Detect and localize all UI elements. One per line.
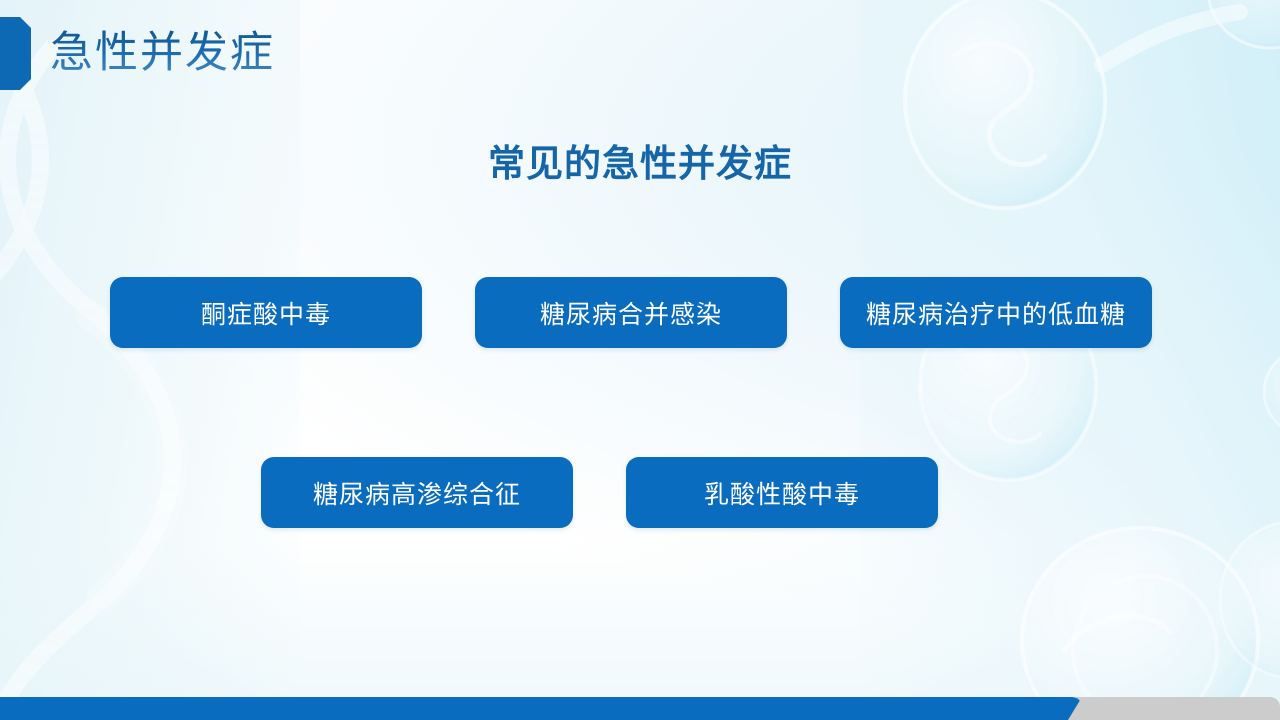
slide-canvas: 急性并发症 常见的急性并发症 酮症酸中毒 糖尿病合并感染 糖尿病治疗中的低血糖 … xyxy=(0,0,1280,720)
background-right-wash xyxy=(860,0,1280,720)
complication-item-label: 乳酸性酸中毒 xyxy=(704,475,860,511)
complication-item-box[interactable]: 糖尿病高渗综合征 xyxy=(261,457,573,528)
background-bottom-wash xyxy=(0,540,1280,720)
header-accent-tab-icon xyxy=(0,17,31,90)
complication-item-box[interactable]: 酮症酸中毒 xyxy=(110,277,422,348)
complication-item-label: 糖尿病治疗中的低血糖 xyxy=(866,295,1126,331)
molecule-bubbles-icon xyxy=(840,0,1280,720)
complication-item-label: 酮症酸中毒 xyxy=(201,295,331,331)
background-left-wash xyxy=(0,0,300,720)
complication-item-box[interactable]: 糖尿病合并感染 xyxy=(475,277,787,348)
complication-item-label: 糖尿病合并感染 xyxy=(540,295,722,331)
complication-item-label: 糖尿病高渗综合征 xyxy=(313,475,521,511)
dna-helix-icon xyxy=(0,40,300,720)
background-decoration xyxy=(0,0,1280,720)
footer-blue-bar xyxy=(0,697,1082,720)
complication-item-box[interactable]: 糖尿病治疗中的低血糖 xyxy=(840,277,1152,348)
complication-item-box[interactable]: 乳酸性酸中毒 xyxy=(626,457,938,528)
section-heading: 常见的急性并发症 xyxy=(0,143,1280,187)
page-title: 急性并发症 xyxy=(50,25,275,83)
footer-gray-bar xyxy=(1062,697,1280,720)
